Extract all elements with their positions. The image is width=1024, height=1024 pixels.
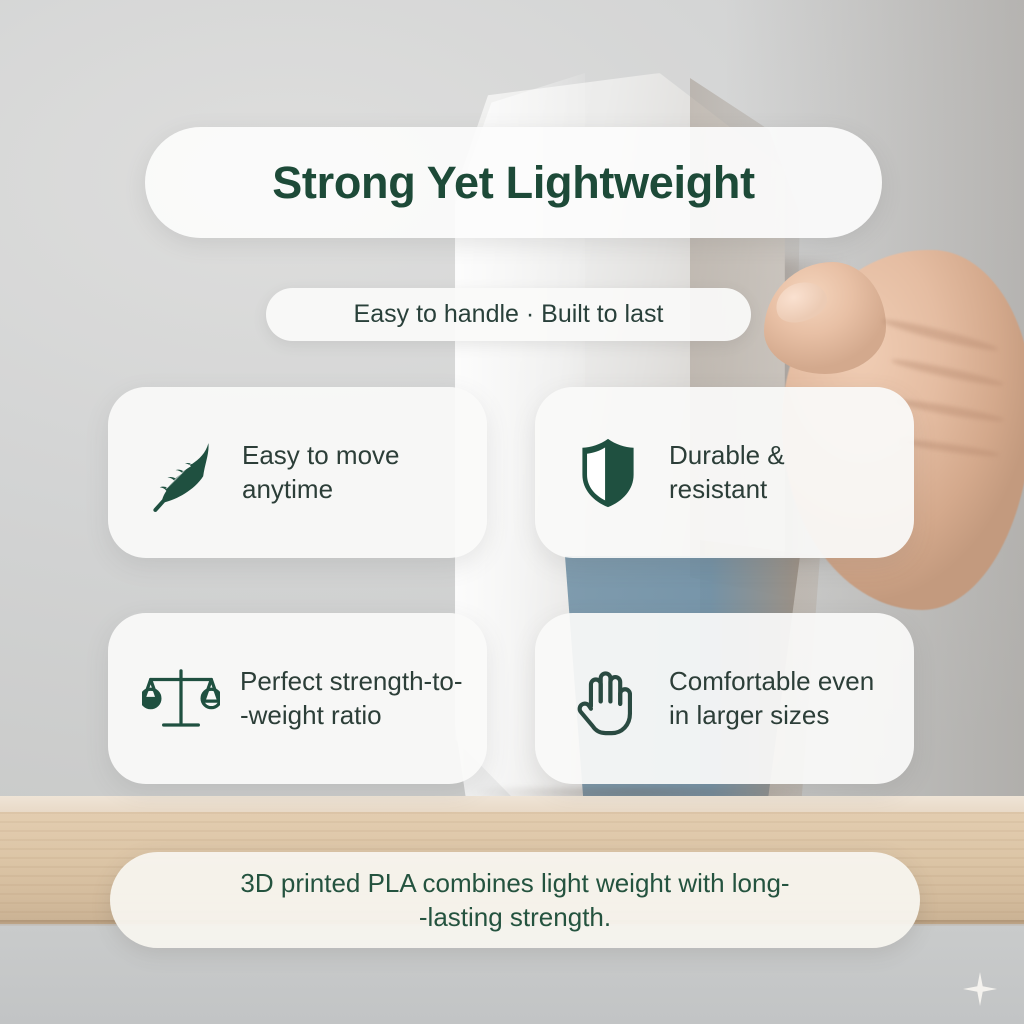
shield-icon [569, 434, 647, 512]
feature-card-strength-to-weight: Perfect strength-to- -weight ratio [108, 613, 487, 784]
feature-card-durable: Durable & resistant [535, 387, 914, 558]
feature-label: Comfortable even in larger sizes [669, 665, 892, 732]
feature-card-comfortable: Comfortable even in larger sizes [535, 613, 914, 784]
overlay-ui: Strong Yet Lightweight Easy to handle · … [0, 0, 1024, 1024]
scales-icon [142, 660, 220, 738]
feature-label: Easy to move anytime [242, 439, 400, 506]
hand-icon [569, 660, 647, 738]
feature-label: Durable & resistant [669, 439, 785, 506]
feature-label: Perfect strength-to- -weight ratio [240, 665, 465, 732]
feature-card-easy-to-move: Easy to move anytime [108, 387, 487, 558]
footer-banner: 3D printed PLA combines light weight wit… [110, 852, 920, 948]
footer-text: 3D printed PLA combines light weight wit… [240, 866, 789, 935]
feather-icon [142, 434, 220, 512]
